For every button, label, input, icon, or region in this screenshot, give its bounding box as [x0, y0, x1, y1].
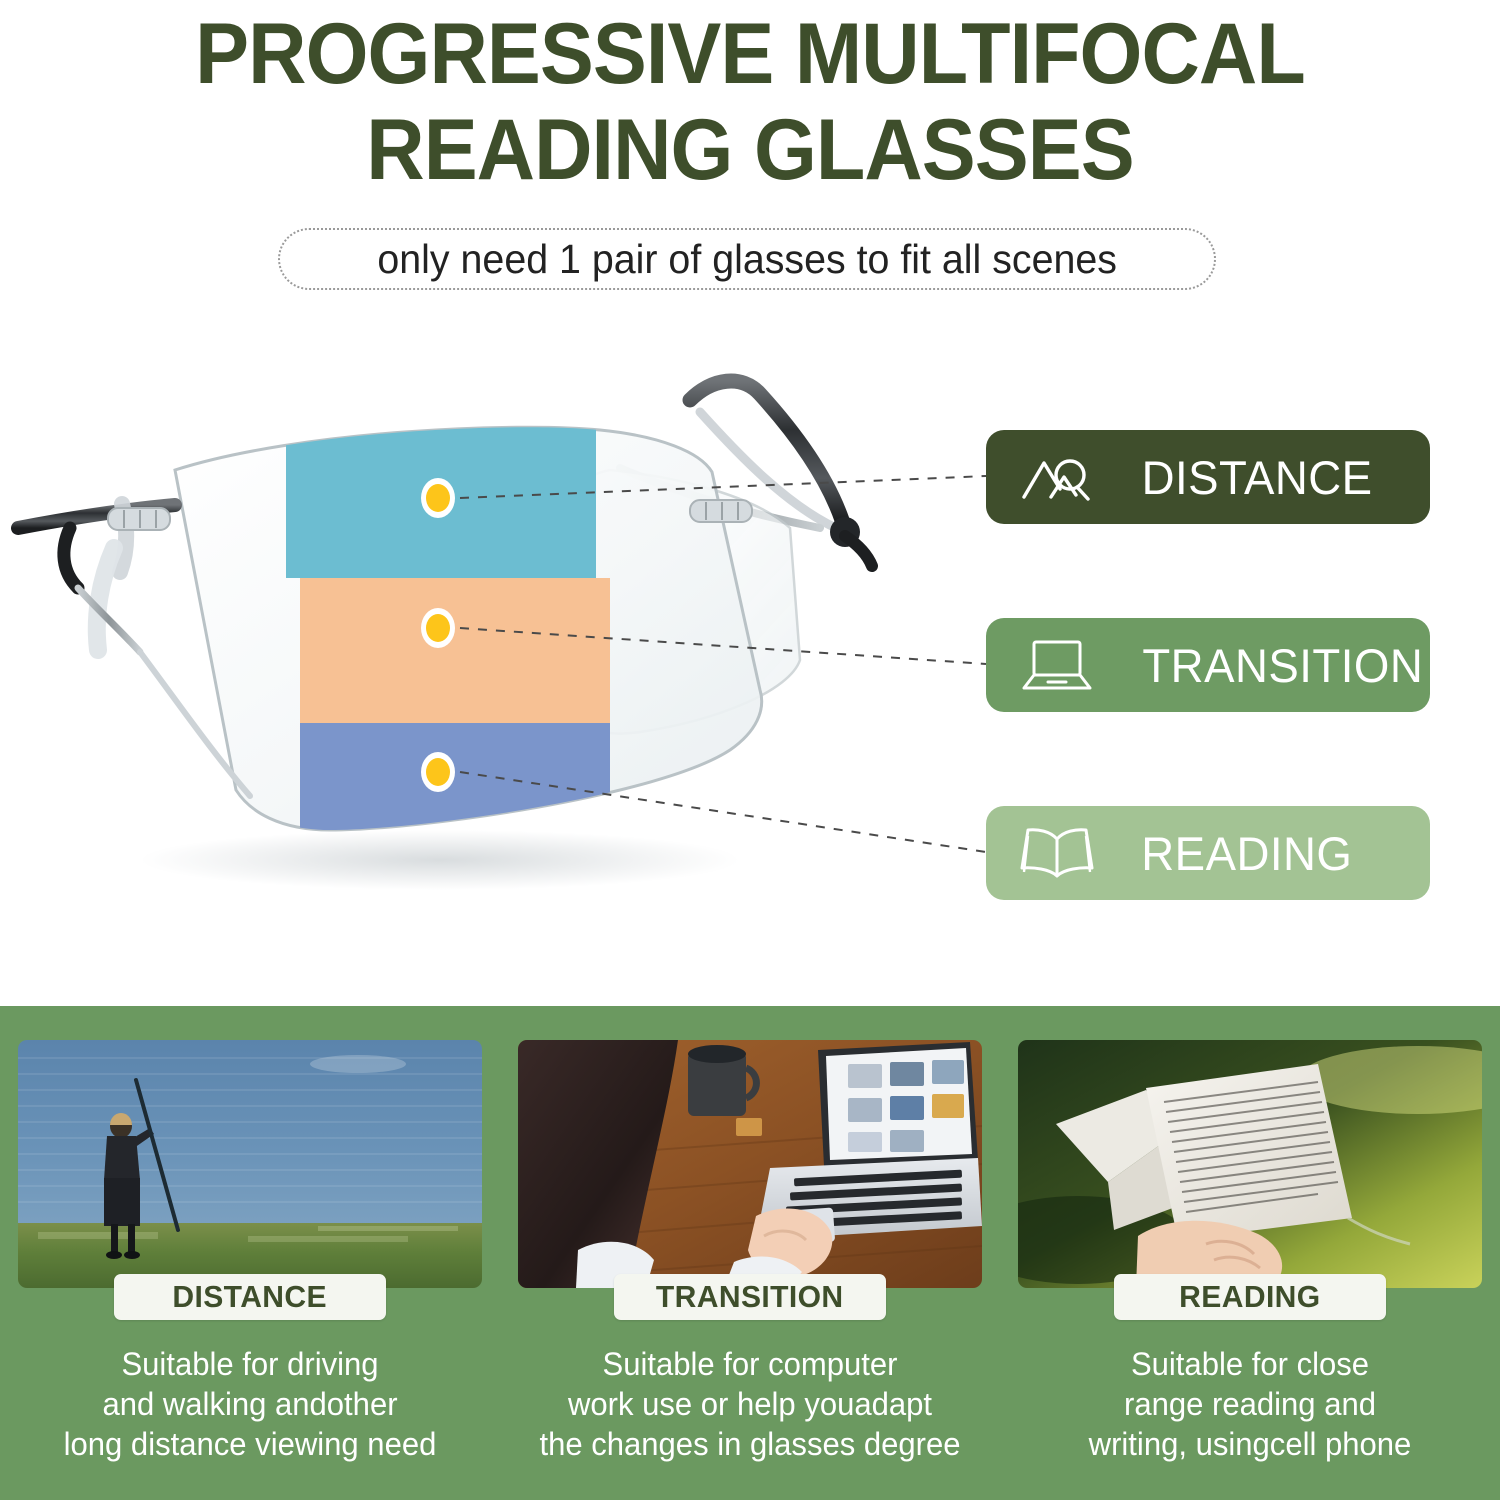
- page-title: PROGRESSIVE MULTIFOCAL READING GLASSES: [45, 6, 1455, 198]
- mountain-sun-icon: [1020, 446, 1094, 508]
- zone-transition: [300, 578, 610, 723]
- card-pill-reading-text: READING: [1179, 1279, 1320, 1315]
- card-pill-distance: DISTANCE: [114, 1274, 386, 1320]
- card-desc-reading: Suitable for close range reading and wri…: [1017, 1344, 1483, 1464]
- subtitle-pill: only need 1 pair of glasses to fit all s…: [278, 228, 1216, 290]
- use-case-card-distance: DISTANCE Suitable for driving and walkin…: [0, 1006, 500, 1500]
- header-section: PROGRESSIVE MULTIFOCAL READING GLASSES o…: [0, 0, 1500, 330]
- badge-reading-label: READING: [1141, 826, 1352, 881]
- use-case-cards: DISTANCE Suitable for driving and walkin…: [0, 1006, 1500, 1500]
- man-fishing-by-lake-photo: [18, 1040, 482, 1288]
- zone-marker-distance: [421, 478, 455, 518]
- glasses-shadow: [140, 830, 740, 890]
- card-pill-reading: READING: [1114, 1274, 1386, 1320]
- badge-distance-label: DISTANCE: [1142, 450, 1373, 505]
- lens-hinge-hardware: [108, 508, 170, 530]
- badge-transition[interactable]: TRANSITION: [986, 618, 1430, 712]
- card-desc-transition-line-3: the changes in glasses degree: [517, 1424, 983, 1464]
- card-desc-transition-line-2: work use or help youadapt: [517, 1384, 983, 1424]
- glasses-illustration: [0, 360, 960, 940]
- badge-transition-label: TRANSITION: [1142, 638, 1423, 693]
- open-book-icon: [1020, 822, 1094, 884]
- zone-marker-transition: [421, 608, 455, 648]
- title-line-1: PROGRESSIVE MULTIFOCAL: [195, 6, 1305, 102]
- card-desc-distance-line-1: Suitable for driving: [17, 1344, 483, 1384]
- woman-at-laptop-photo: [518, 1040, 982, 1288]
- card-desc-distance: Suitable for driving and walking andothe…: [17, 1344, 483, 1464]
- card-pill-transition-text: TRANSITION: [656, 1279, 844, 1315]
- card-desc-distance-line-2: and walking andother: [17, 1384, 483, 1424]
- card-pill-distance-text: DISTANCE: [173, 1279, 328, 1315]
- card-desc-transition: Suitable for computer work use or help y…: [517, 1344, 983, 1464]
- card-pill-transition: TRANSITION: [614, 1274, 886, 1320]
- zone-marker-reading: [421, 752, 455, 792]
- far-lens-hinge-hardware: [690, 500, 752, 522]
- card-desc-reading-line-1: Suitable for close: [1017, 1344, 1483, 1384]
- card-desc-reading-line-2: range reading and: [1017, 1384, 1483, 1424]
- use-case-panel: DISTANCE Suitable for driving and walkin…: [0, 1006, 1500, 1500]
- badge-distance[interactable]: DISTANCE: [986, 430, 1430, 524]
- card-desc-reading-line-3: writing, usingcell phone: [1017, 1424, 1483, 1464]
- title-line-2: READING GLASSES: [45, 102, 1455, 198]
- laptop-icon: [1020, 634, 1094, 696]
- use-case-card-reading: READING Suitable for close range reading…: [1000, 1006, 1500, 1500]
- hands-holding-open-book-photo: [1018, 1040, 1482, 1288]
- badge-reading[interactable]: READING: [986, 806, 1430, 900]
- hero-section: DISTANCE TRANSITION READING: [0, 330, 1500, 1006]
- subtitle-text: only need 1 pair of glasses to fit all s…: [377, 236, 1117, 283]
- use-case-card-transition: TRANSITION Suitable for computer work us…: [500, 1006, 1000, 1500]
- card-desc-distance-line-3: long distance viewing need: [17, 1424, 483, 1464]
- card-desc-transition-line-1: Suitable for computer: [517, 1344, 983, 1384]
